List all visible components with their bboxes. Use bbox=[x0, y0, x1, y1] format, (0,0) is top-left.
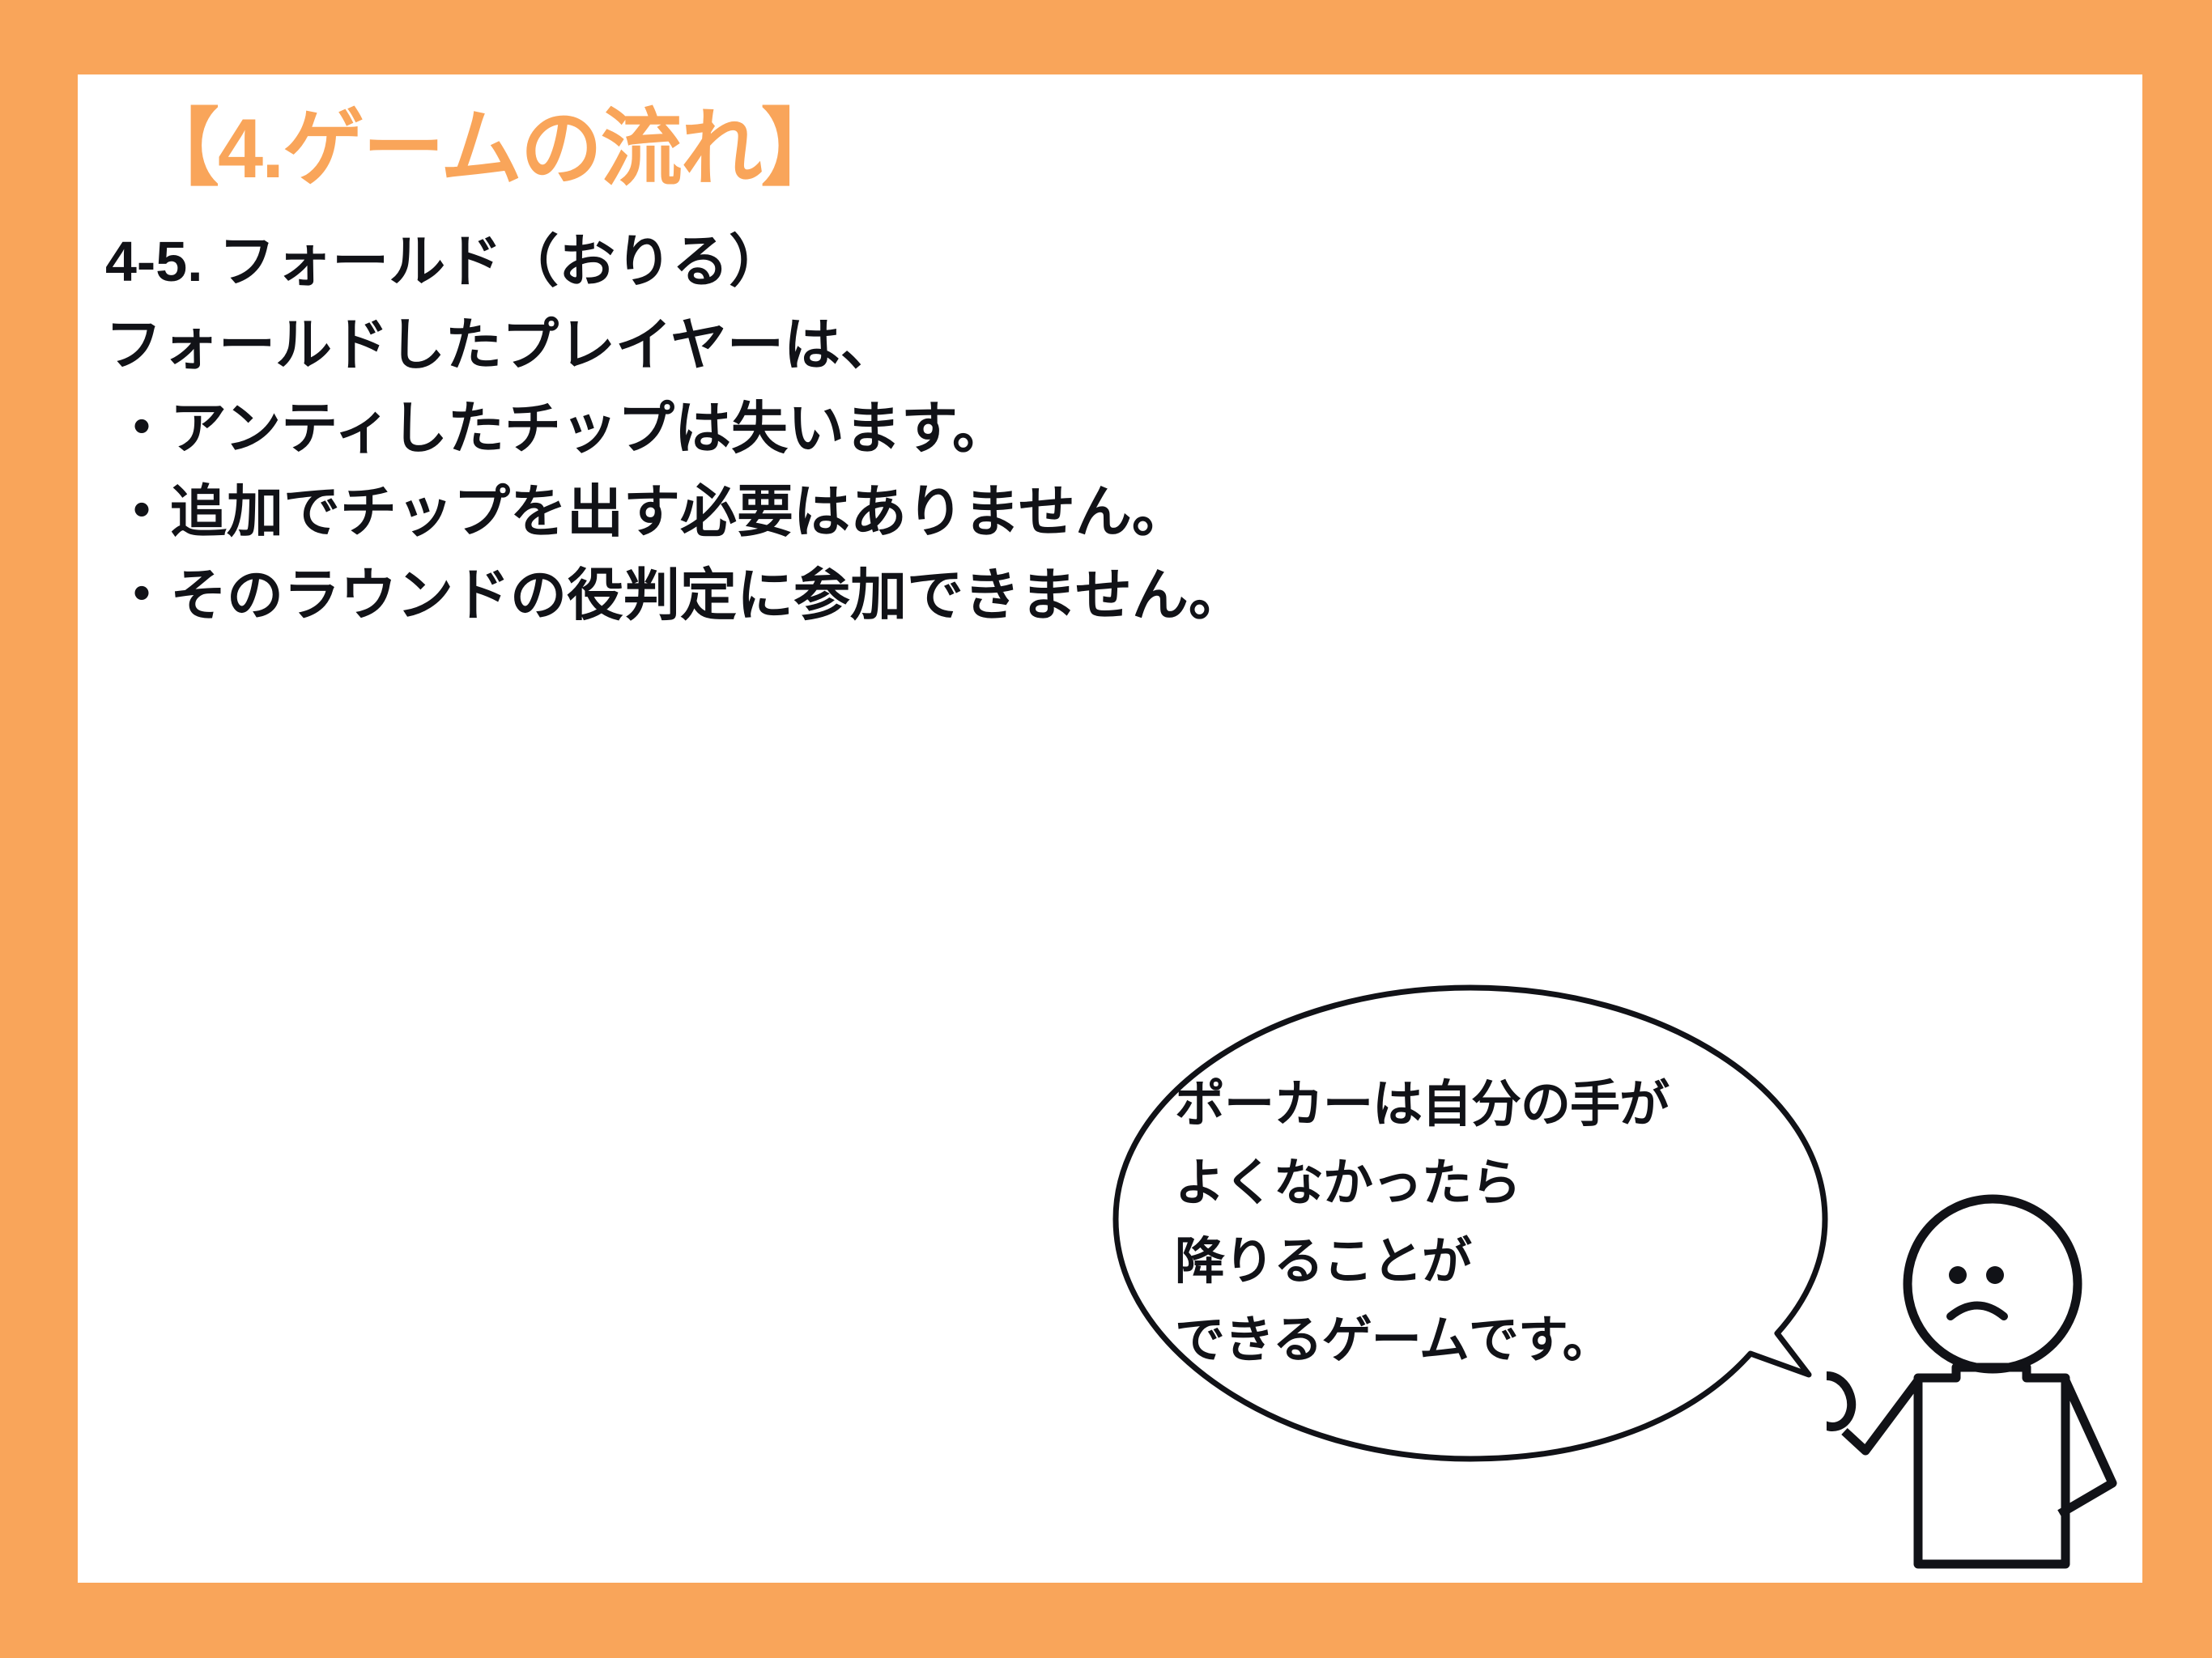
bullet-item-1: ・アンティしたチップは失います。 bbox=[105, 387, 1725, 470]
intro-line: フォールドしたプレイヤーは、 bbox=[105, 304, 1725, 387]
speech-bubble: ポーカーは自分の手が よくなかったら 降りることが できるゲームです。 bbox=[1082, 976, 1859, 1478]
speech-bubble-text: ポーカーは自分の手が よくなかったら 降りることが できるゲームです。 bbox=[1175, 1065, 1798, 1380]
bubble-line-2: よくなかったら bbox=[1175, 1144, 1798, 1222]
bubble-line-4: できるゲームです。 bbox=[1175, 1301, 1798, 1380]
mouth-frown bbox=[1950, 1306, 2004, 1317]
eye-right bbox=[1986, 1266, 2004, 1284]
stick-figure-character bbox=[1827, 1184, 2212, 1605]
stick-figure-drawing bbox=[1827, 1184, 2212, 1605]
torso bbox=[1918, 1367, 2065, 1564]
head bbox=[1908, 1199, 2078, 1369]
eye-left bbox=[1949, 1266, 1967, 1284]
section-heading: 4-5. フォールド（おりる） bbox=[105, 220, 1725, 304]
bullet-item-2: ・追加でチップを出す必要はありません。 bbox=[105, 470, 1725, 554]
page-title: 【4.ゲームの流れ】 bbox=[138, 105, 841, 193]
hand-open bbox=[1827, 1371, 1858, 1433]
bubble-line-3: 降りることが bbox=[1175, 1222, 1798, 1301]
body-text-block: 4-5. フォールド（おりる） フォールドしたプレイヤーは、 ・アンティしたチッ… bbox=[105, 220, 1725, 637]
arm-left bbox=[1844, 1380, 1918, 1451]
slide-content-panel: 【4.ゲームの流れ】 4-5. フォールド（おりる） フォールドしたプレイヤーは… bbox=[78, 74, 2142, 1583]
bullet-item-3: ・そのラウンドの役判定に参加できません。 bbox=[105, 554, 1725, 637]
bubble-line-1: ポーカーは自分の手が bbox=[1175, 1065, 1798, 1144]
slide-canvas: 【4.ゲームの流れ】 4-5. フォールド（おりる） フォールドしたプレイヤーは… bbox=[0, 0, 2212, 1658]
